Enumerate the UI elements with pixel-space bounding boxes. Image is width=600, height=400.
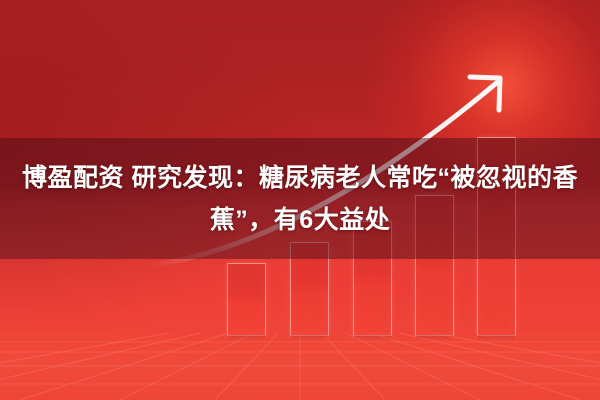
banner-image: 博盈配资 研究发现：糖尿病老人常吃“被忽视的香蕉”，有6大益处 <box>0 0 600 400</box>
page-title: 博盈配资 研究发现：糖尿病老人常吃“被忽视的香蕉”，有6大益处 <box>10 157 590 241</box>
headline-container: 博盈配资 研究发现：糖尿病老人常吃“被忽视的香蕉”，有6大益处 <box>0 138 600 259</box>
